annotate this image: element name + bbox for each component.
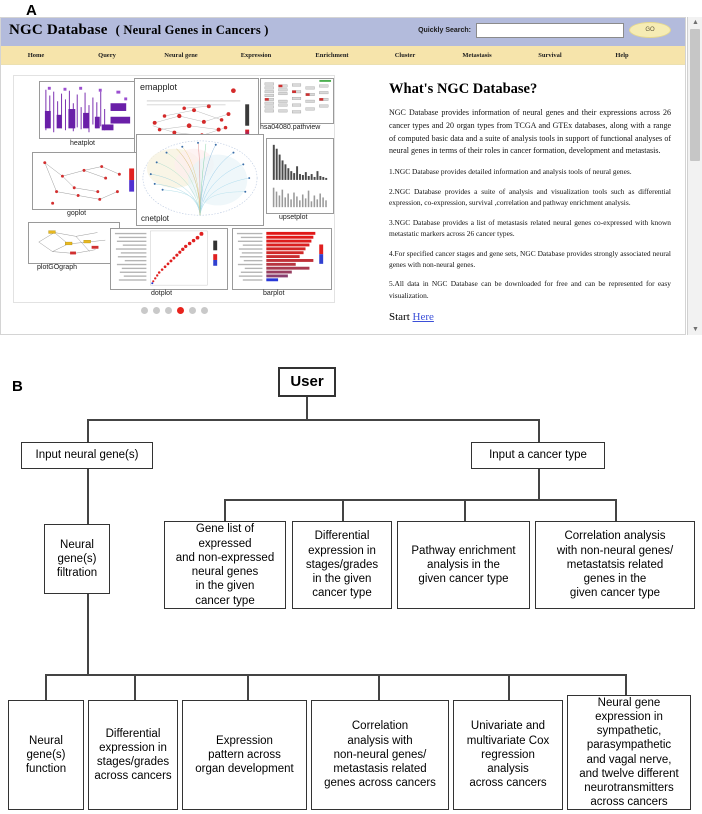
flow-box-diff-expr-cancer[interactable]: Differential expression in stages/grades… <box>292 521 392 609</box>
collage-tile-dotplot[interactable] <box>110 228 228 290</box>
flow-box-input-neural-genes[interactable]: Input neural gene(s) <box>21 442 153 469</box>
flow-box-neurotransmitters[interactable]: Neural gene expression in sympathetic, p… <box>567 695 691 810</box>
carousel-dot-4[interactable] <box>177 307 184 314</box>
collage-label-emapplot: emapplot <box>139 82 178 92</box>
about-point-3: 3.NGC Database provides a list of metast… <box>389 217 671 240</box>
connector-cancer-b2 <box>342 499 344 521</box>
flow-box-expression-pattern[interactable]: Expression pattern across organ developm… <box>182 700 307 810</box>
collage-label-plotgograph: plotGOgraph <box>36 264 78 271</box>
carousel-dots[interactable] <box>13 307 335 314</box>
about-point-5: 5.All data in NGC Database can be downlo… <box>389 278 671 301</box>
connector-user-down <box>306 397 308 419</box>
connector-bottom-b1 <box>45 674 47 700</box>
scroll-up-arrow-icon[interactable]: ▲ <box>692 19 699 26</box>
flow-box-user[interactable]: User <box>278 367 336 397</box>
collage-label-upsetplot: upsetplot <box>278 214 308 221</box>
scroll-down-arrow-icon[interactable]: ▼ <box>692 326 699 333</box>
connector-to-gene-input <box>87 419 89 442</box>
connector-cancer-down <box>538 469 540 499</box>
nav-item-query[interactable]: Query <box>71 52 143 59</box>
carousel-dot-5[interactable] <box>189 307 196 314</box>
collage-tile-pathview[interactable] <box>260 78 334 124</box>
go-button[interactable]: GO <box>629 22 671 38</box>
collage-label-dotplot: dotplot <box>150 290 173 297</box>
site-title-text: NGC Database <box>9 22 108 38</box>
collage-label-cnetplot: cnetplot <box>140 214 170 223</box>
start-here-link[interactable]: Here <box>413 311 434 323</box>
site-title: NGC Database( Neural Genes in Cancers ) <box>9 22 269 39</box>
about-point-2: 2.NGC Database provides a suite of analy… <box>389 186 671 209</box>
connector-filter-down <box>87 594 89 674</box>
collage-tile-goplot[interactable] <box>32 152 140 210</box>
search-area: Quickly Search: GO <box>418 22 671 38</box>
start-text: Start <box>389 311 410 323</box>
connector-bottom-b2 <box>134 674 136 700</box>
flow-box-correlation-cancer[interactable]: Correlation analysis with non-neural gen… <box>535 521 695 609</box>
collage-label-pathview: hsa04080.pathview <box>259 124 321 131</box>
carousel-dot-6[interactable] <box>201 307 208 314</box>
search-input[interactable] <box>476 23 624 38</box>
start-line: Start Here <box>389 311 671 323</box>
flow-box-gene-function[interactable]: Neural gene(s) function <box>8 700 84 810</box>
nav-item-cluster[interactable]: Cluster <box>371 52 439 59</box>
plot-collage[interactable]: heatplot <box>13 75 335 303</box>
collage-tile-upsetplot[interactable] <box>266 138 334 214</box>
nav-item-home[interactable]: Home <box>1 52 71 59</box>
nav-item-expression[interactable]: Expression <box>219 52 293 59</box>
nav-item-metastasis[interactable]: Metastasis <box>439 52 515 59</box>
connector-cancer-b1 <box>224 499 226 521</box>
connector-gene-to-filter <box>87 469 89 524</box>
carousel-dot-3[interactable] <box>165 307 172 314</box>
connector-bottom-bus <box>45 674 625 676</box>
collage-tile-plotgograph[interactable] <box>28 222 120 264</box>
connector-bottom-b5 <box>508 674 510 700</box>
about-section: What's NGC Database? NGC Database provid… <box>389 81 671 323</box>
nav-item-enrichment[interactable]: Enrichment <box>293 52 371 59</box>
nav-item-help[interactable]: Help <box>585 52 659 59</box>
search-label: Quickly Search: <box>418 27 471 34</box>
carousel-dot-1[interactable] <box>141 307 148 314</box>
site-header: NGC Database( Neural Genes in Cancers ) … <box>1 18 685 46</box>
scrollbar-thumb[interactable] <box>690 29 700 161</box>
workflow-flowchart: User Input neural gene(s) Input a cancer… <box>0 355 702 814</box>
collage-tile-barplot[interactable] <box>232 228 332 290</box>
connector-level1-bus <box>87 419 539 421</box>
site-body: heatplot <box>1 65 685 335</box>
nav-item-neural-gene[interactable]: Neural gene <box>143 52 219 59</box>
collage-tile-heatplot[interactable] <box>39 81 137 139</box>
flow-box-correlation-across[interactable]: Correlation analysis with non-neural gen… <box>311 700 449 810</box>
about-title: What's NGC Database? <box>389 81 671 98</box>
website-screenshot-panel: NGC Database( Neural Genes in Cancers ) … <box>0 17 686 335</box>
connector-bottom-b3 <box>247 674 249 700</box>
site-subtitle-text: ( Neural Genes in Cancers ) <box>116 23 269 37</box>
flow-box-diff-expr-across[interactable]: Differential expression in stages/grades… <box>88 700 178 810</box>
connector-cancer-b3 <box>464 499 466 521</box>
flow-box-gene-filtration[interactable]: Neural gene(s) filtration <box>44 524 110 594</box>
nav-item-survival[interactable]: Survival <box>515 52 585 59</box>
carousel-dot-2[interactable] <box>153 307 160 314</box>
flow-box-cox-regression[interactable]: Univariate and multivariate Cox regressi… <box>453 700 563 810</box>
flow-box-input-cancer-type[interactable]: Input a cancer type <box>471 442 605 469</box>
collage-label-goplot: goplot <box>66 210 87 217</box>
page-scrollbar[interactable]: ▲ ▼ <box>687 17 702 335</box>
connector-bottom-b4 <box>378 674 380 700</box>
about-points-list: 1.NGC Database provides detailed informa… <box>389 166 671 301</box>
connector-cancer-bus <box>224 499 616 501</box>
collage-label-barplot: barplot <box>262 290 285 297</box>
collage-label-heatplot: heatplot <box>69 140 96 147</box>
flow-box-pathway-enrichment[interactable]: Pathway enrichment analysis in the given… <box>397 521 530 609</box>
flow-box-gene-list[interactable]: Gene list of expressed and non-expressed… <box>164 521 286 609</box>
about-point-1: 1.NGC Database provides detailed informa… <box>389 166 671 177</box>
about-intro: NGC Database provides information of neu… <box>389 107 671 158</box>
connector-to-cancer-input <box>538 419 540 442</box>
collage-tile-cnetplot[interactable]: cnetplot <box>136 134 264 226</box>
about-point-4: 4.For specified cancer stages and gene s… <box>389 248 671 271</box>
connector-cancer-b4 <box>615 499 617 521</box>
site-navbar: HomeQueryNeural geneExpressionEnrichment… <box>1 46 685 65</box>
